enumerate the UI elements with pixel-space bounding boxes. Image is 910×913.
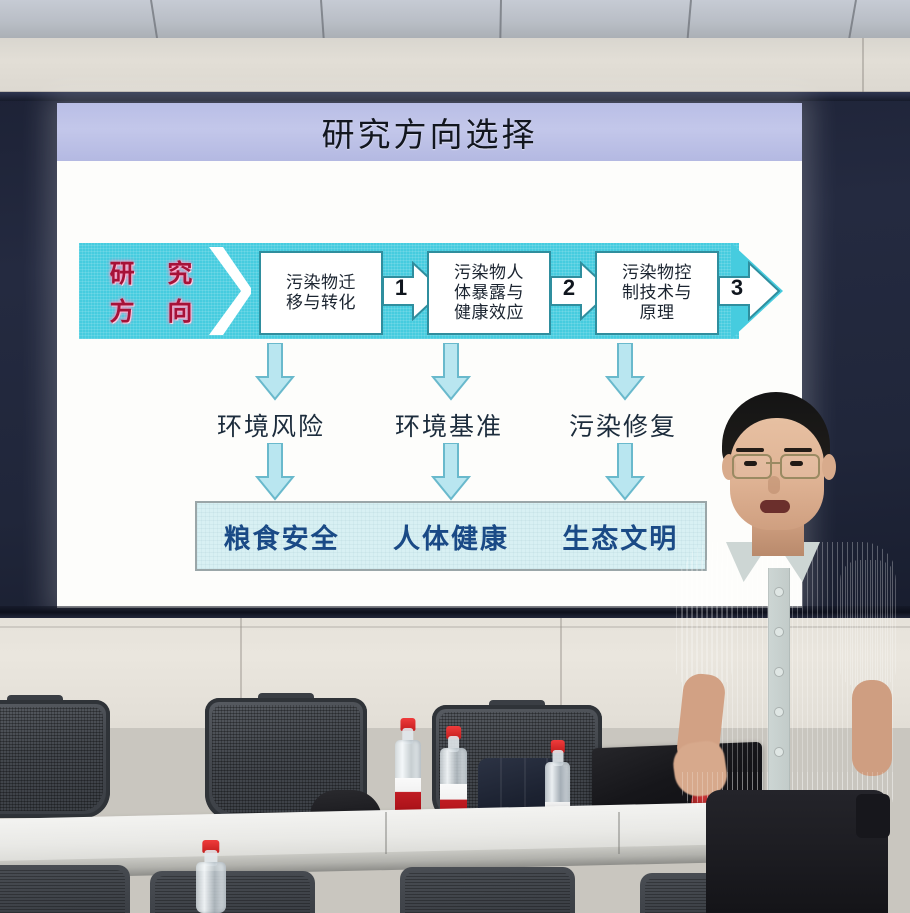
presenter-shirt-placket — [768, 568, 790, 800]
wall-seam — [862, 38, 864, 94]
shirt-button — [775, 628, 783, 636]
blackboard-top-rail — [0, 92, 910, 101]
process-arrow-3-number: 3 — [725, 275, 749, 301]
outcome-item-1: 粮食安全 — [224, 517, 340, 556]
process-arrow-3-icon: 3 — [719, 261, 781, 321]
process-arrow-2-number: 2 — [557, 275, 581, 301]
slide-title-bar: 研究方向选择 — [57, 103, 802, 161]
presenter-brow-right — [784, 448, 812, 452]
step3-line2: 制技术与 — [622, 283, 692, 303]
outcome-item-2: 人体健康 — [393, 517, 509, 556]
water-bottle — [196, 862, 226, 913]
process-step-box-3: 污染物控 制技术与 原理 — [595, 251, 719, 335]
ceiling — [0, 0, 910, 40]
down-arrow-6-icon — [605, 443, 645, 501]
shirt-button — [775, 748, 783, 756]
process-arrow-1-number: 1 — [389, 275, 413, 301]
down-arrow-2-icon — [431, 343, 471, 401]
presenter — [660, 392, 910, 913]
presenter-pocket — [856, 794, 890, 838]
presenter-mouth — [760, 500, 790, 513]
step2-line1: 污染物人 — [454, 263, 524, 283]
step1-line2: 移与转化 — [286, 293, 356, 313]
step1-line1: 污染物迁 — [286, 273, 356, 293]
upper-wall — [0, 38, 910, 94]
outcome-bar: 粮食安全 人体健康 生态文明 — [195, 501, 707, 571]
eyeglasses-icon — [780, 454, 820, 479]
process-band: 研 究 方 向 污染物迁 移与转化 1 — [79, 243, 783, 339]
process-step-box-2: 污染物人 体暴露与 健康效应 — [427, 251, 551, 335]
step2-line3: 健康效应 — [454, 303, 524, 323]
down-arrow-5-icon — [431, 443, 471, 501]
presenter-sleeve-right — [840, 560, 896, 686]
chevron-separator-icon — [207, 243, 251, 339]
table-seam — [618, 812, 620, 854]
eyeglasses-bridge — [766, 462, 780, 464]
middle-label-1: 环境风险 — [217, 407, 325, 443]
shirt-button — [775, 668, 783, 676]
presenter-brow-left — [736, 448, 764, 452]
research-direction-line-1: 研 究 — [98, 254, 205, 290]
presenter-sleeve-left — [676, 560, 732, 686]
mesh-office-chair — [150, 871, 315, 913]
presenter-eye-left — [744, 461, 757, 466]
down-arrow-3-icon — [605, 343, 645, 401]
presenter-eye-right — [790, 461, 803, 466]
step3-line3: 原理 — [640, 303, 675, 323]
step3-line1: 污染物控 — [622, 263, 692, 283]
shirt-button — [775, 708, 783, 716]
bottle-label — [395, 778, 421, 812]
step2-line2: 体暴露与 — [454, 283, 524, 303]
mesh-office-chair — [0, 865, 130, 913]
lecture-room-scene: 研究方向选择 研 究 方 向 污染物迁 移 — [0, 0, 910, 913]
process-step-box-1: 污染物迁 移与转化 — [259, 251, 383, 335]
presenter-arm-right — [852, 680, 892, 776]
down-arrow-1-icon — [255, 343, 295, 401]
bottle-body — [196, 862, 226, 913]
research-direction-line-2: 方 向 — [98, 292, 205, 328]
down-arrow-4-icon — [255, 443, 295, 501]
table-seam — [385, 812, 387, 854]
shirt-button — [775, 588, 783, 596]
presenter-ear-right — [822, 454, 836, 480]
research-direction-label: 研 究 方 向 — [93, 257, 209, 325]
eyeglasses-icon — [732, 454, 772, 479]
mesh-office-chair — [0, 700, 110, 818]
outcome-item-3: 生态文明 — [562, 517, 678, 556]
middle-label-2: 环境基准 — [395, 407, 503, 443]
mesh-office-chair — [400, 867, 575, 913]
slide-title: 研究方向选择 — [322, 108, 538, 156]
presenter-nose — [768, 476, 780, 494]
